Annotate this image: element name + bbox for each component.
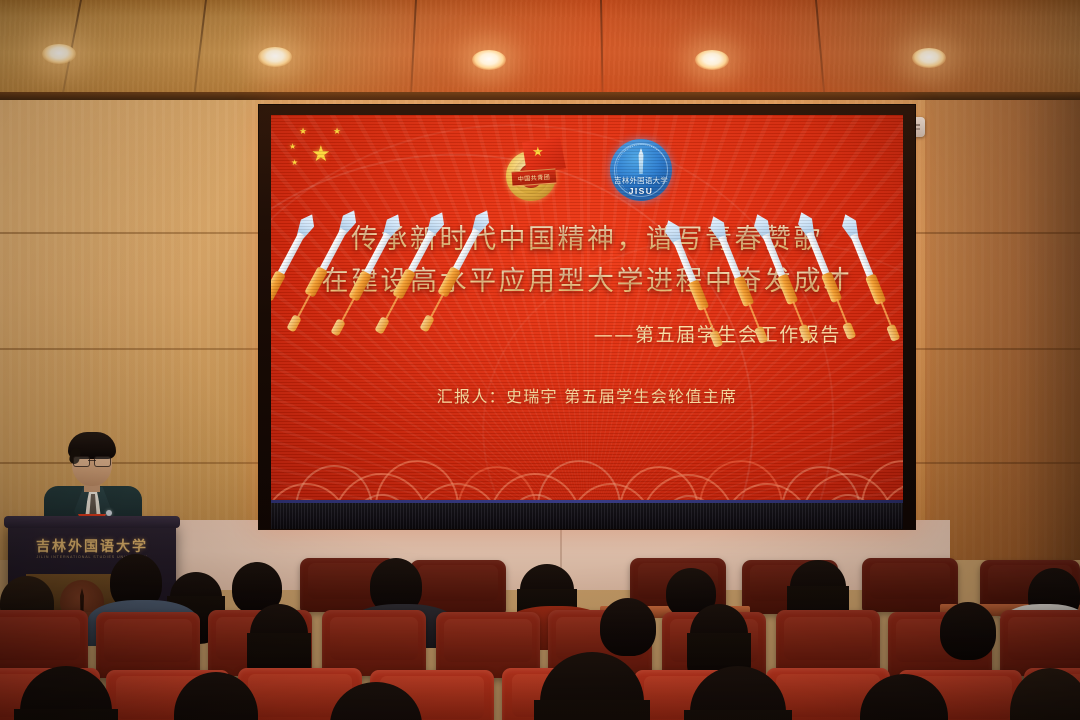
wall-right-shadow [925,100,1080,560]
ceiling-downlight [695,50,729,70]
audience-head [940,602,996,660]
screen-bottom-bar [271,503,903,529]
screen-logo-row: ★ 中国共青团 吉林外国语大学 JISU [271,137,903,203]
led-screen-bezel: ★ ★ ★ ★ ★ ★ 中国共青团 [258,104,916,530]
seat [1000,610,1080,676]
ceiling-downlight [472,50,506,70]
chinese-wave-pattern [271,417,903,503]
seat [776,610,880,676]
league-band: 中国共青团 [512,168,557,186]
ceiling-downlight [258,47,292,67]
flag-star-icon: ★ [532,145,544,158]
league-band-text: 中国共青团 [517,172,550,183]
audience-head [250,604,308,664]
audience-head [600,598,656,656]
led-screen-display[interactable]: ★ ★ ★ ★ ★ ★ 中国共青团 [271,115,903,503]
auditorium-scene: ★ ★ ★ ★ ★ ★ 中国共青团 [0,0,1080,720]
screen-presenter-line: 汇报人：史瑞宇 第五届学生会轮值主席 [271,383,903,407]
jisu-university-logo-icon: 吉林外国语大学 JISU [610,139,672,201]
glasses-icon [73,456,111,465]
audience-area [0,548,1080,720]
audience-head [690,604,748,664]
lectern-top-edge [4,516,180,528]
communist-youth-league-emblem-icon: ★ 中国共青团 [502,137,572,203]
audience-head [790,560,846,614]
ceiling-downlight [912,48,946,68]
presenter-hair [68,432,116,459]
ceiling-panel [0,0,1080,96]
ceiling-downlight [42,44,76,64]
seat [96,612,200,678]
seat [322,610,426,676]
